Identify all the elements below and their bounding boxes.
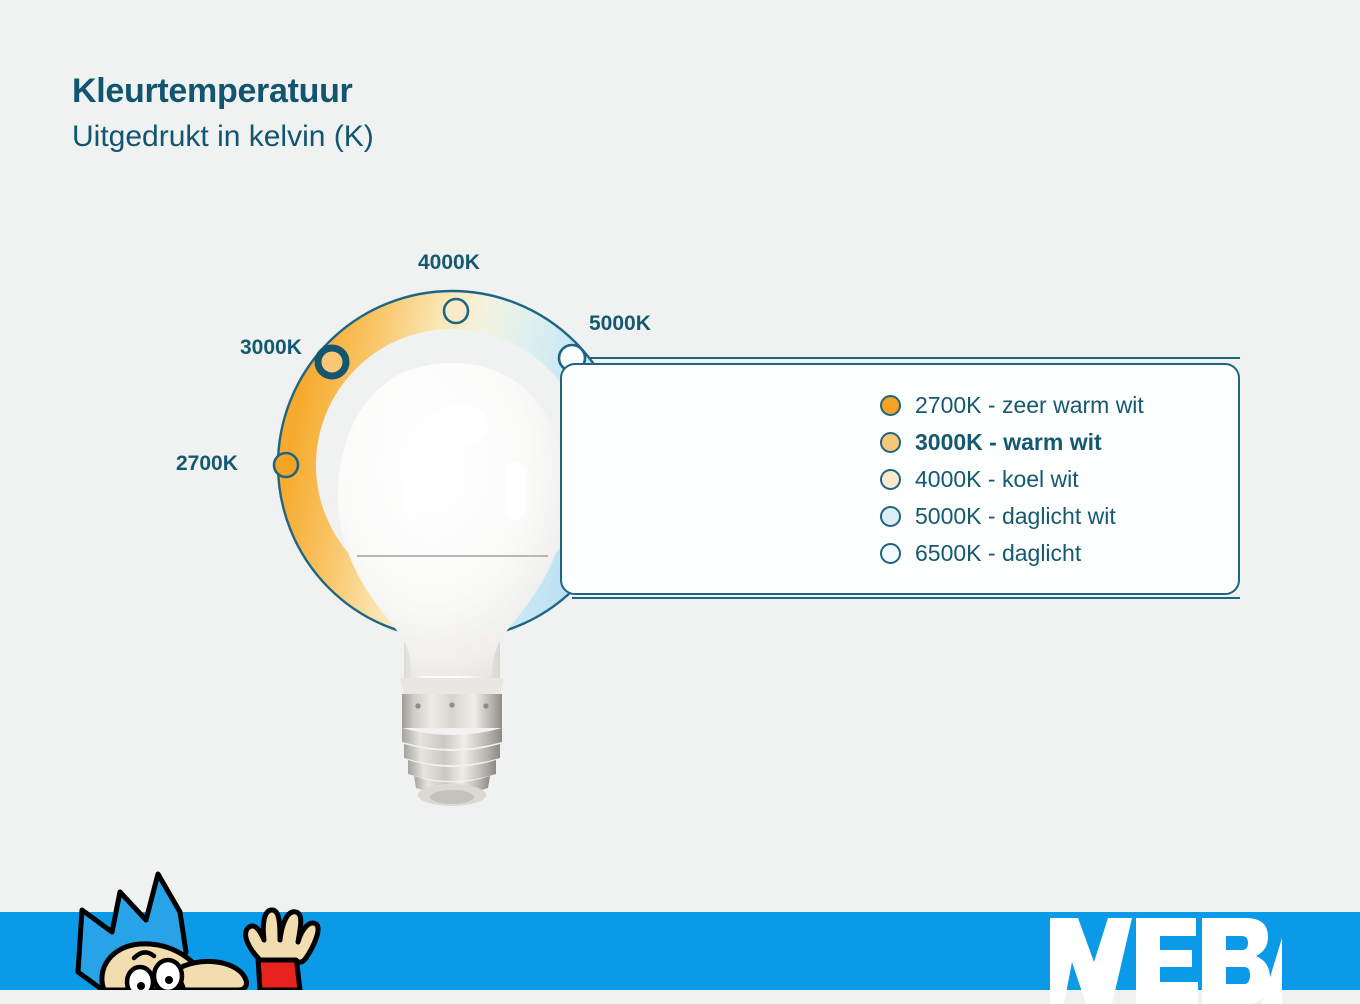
mascot-eye-right [154, 960, 182, 990]
legend-label-5000k: 5000K - daglicht wit [915, 503, 1116, 530]
mascot-pupil-left [137, 982, 145, 990]
legend-swatch-3000k [880, 432, 901, 453]
legend-swatch-5000k [880, 506, 901, 527]
weba-logo [1050, 912, 1282, 1004]
dial-marker-3000[interactable] [318, 348, 346, 376]
legend-swatch-4000k [880, 469, 901, 490]
dial-label-4000: 4000K [418, 251, 480, 275]
legend-item-4000k[interactable]: 4000K - koel wit [880, 461, 1144, 498]
legend-list: 2700K - zeer warm wit 3000K - warm wit 4… [880, 387, 1144, 572]
legend-swatch-6500k [880, 543, 901, 564]
legend-panel: 2700K - zeer warm wit 3000K - warm wit 4… [560, 363, 1240, 595]
dial-label-5000: 5000K [589, 312, 651, 336]
legend-label-6500k: 6500K - daglicht [915, 540, 1081, 567]
mascot-pupil-right [165, 976, 173, 984]
mascot-hand [246, 910, 318, 962]
legend-label-2700k: 2700K - zeer warm wit [915, 392, 1144, 419]
dial-marker-4000[interactable] [444, 299, 468, 323]
legend-item-5000k[interactable]: 5000K - daglicht wit [880, 498, 1144, 535]
dial-label-3000: 3000K [240, 336, 302, 360]
legend-item-6500k[interactable]: 6500K - daglicht [880, 535, 1144, 572]
legend-swatch-2700k [880, 395, 901, 416]
dial-label-2700: 2700K [176, 452, 238, 476]
color-temperature-diagram: 2700K 3000K 4000K 5000K 6500K 2700K - ze… [0, 0, 1360, 912]
legend-label-4000k: 4000K - koel wit [915, 466, 1079, 493]
legend-label-3000k: 3000K - warm wit [915, 429, 1102, 456]
mascot-character [8, 864, 348, 990]
light-bulb-illustration [338, 363, 566, 806]
legend-item-2700k[interactable]: 2700K - zeer warm wit [880, 387, 1144, 424]
legend-item-3000k[interactable]: 3000K - warm wit [880, 424, 1144, 461]
dial-marker-2700[interactable] [274, 453, 298, 477]
mascot-nose [176, 961, 246, 990]
